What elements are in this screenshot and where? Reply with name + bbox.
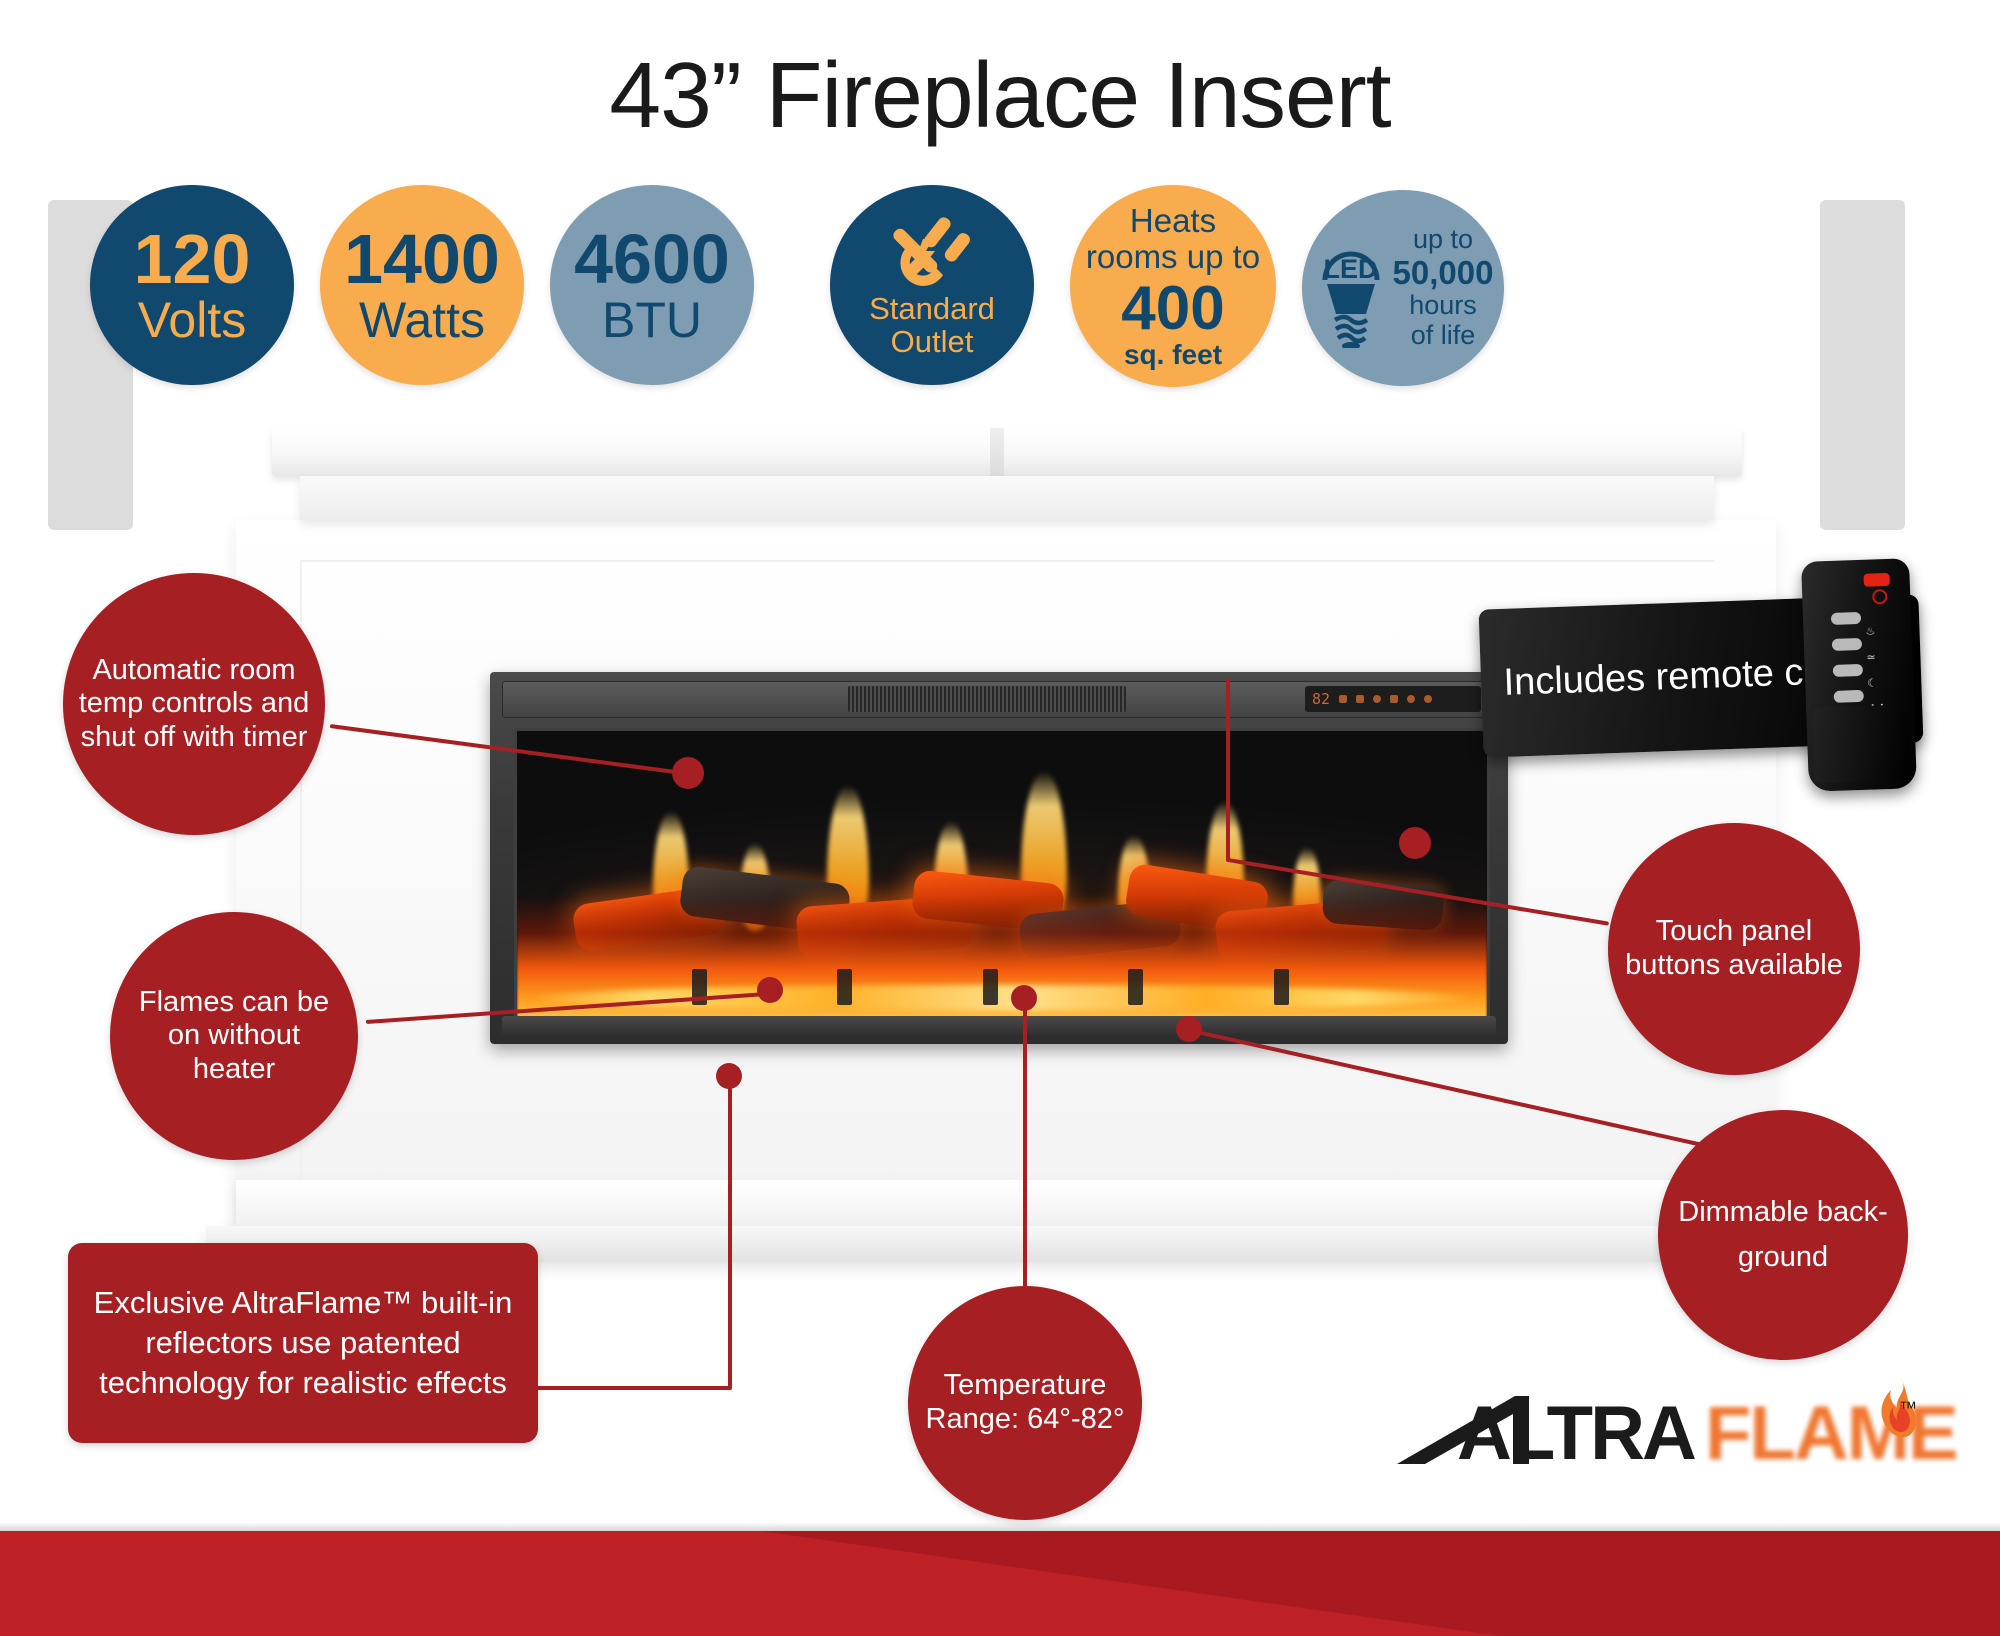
- badge-heats-value: 400: [1121, 277, 1224, 340]
- leader-line-touch-panel-v: [1226, 678, 1230, 862]
- badge-heats-line1: Heats: [1130, 203, 1216, 239]
- band-shadow: [0, 1522, 2000, 1531]
- callout-temperature-range[interactable]: Temperature Range: 64°-82°: [908, 1286, 1142, 1520]
- leader-dot-dimmable: [1176, 1016, 1202, 1042]
- badge-btu-value: 4600: [574, 224, 730, 295]
- moon-icon: ☾: [1867, 677, 1881, 689]
- bulb-icon: LED: [1313, 228, 1389, 348]
- badge-coverage: Heats rooms up to 400 sq. feet: [1070, 185, 1276, 387]
- leader-dot-touch-panel: [1399, 827, 1431, 859]
- leader-dot-auto-temp: [672, 757, 704, 789]
- remote-button-flame[interactable]: [1831, 612, 1861, 625]
- heat-icon: ≃: [1866, 651, 1880, 663]
- vent-grille: [848, 686, 1126, 712]
- badge-watts: 1400 Watts: [320, 185, 524, 385]
- grate-bar: [983, 969, 998, 1005]
- remote-lower-body: [1812, 704, 1911, 783]
- badge-volts-label: Volts: [138, 295, 246, 346]
- timer-button-icon[interactable]: [1373, 695, 1381, 703]
- fireplace-insert: 82: [490, 672, 1508, 1044]
- leader-line-temperature: [1023, 1002, 1027, 1292]
- remote-button-sleep[interactable]: [1833, 664, 1863, 677]
- badge-btu-label: BTU: [602, 295, 702, 346]
- badge-outlet-line1: Standard: [869, 293, 995, 326]
- grate-bar: [837, 969, 852, 1005]
- remote-control: ♨ ≃ ☾ ❙❙: [1801, 558, 1917, 792]
- flame-icon: ♨: [1865, 625, 1879, 637]
- altraflame-logo: ALTRA FLAME ™: [1395, 1368, 1915, 1478]
- insert-bottom-bar: [502, 1016, 1496, 1036]
- badge-standard-outlet: Standard Outlet: [830, 185, 1034, 385]
- insert-top-bar: 82: [502, 681, 1498, 718]
- badge-led-line2: 50,000: [1393, 255, 1494, 291]
- badge-watts-label: Watts: [359, 295, 485, 346]
- badge-heats-line2: rooms up to: [1086, 239, 1260, 275]
- band-diagonal-accent: [0, 1531, 2000, 1636]
- grate-bar: [1274, 969, 1289, 1005]
- badge-outlet-line2: Outlet: [891, 326, 974, 359]
- callout-flames-without-heater[interactable]: Flames can be on without heater: [110, 912, 358, 1160]
- heat-button-icon[interactable]: [1356, 695, 1364, 703]
- callout-touch-panel[interactable]: Touch panel buttons available: [1608, 823, 1860, 1075]
- grate-bar: [1128, 969, 1143, 1005]
- mantel-center-notch: [990, 428, 1004, 476]
- badge-led-line1: up to: [1413, 225, 1473, 255]
- mantel-shelf: [300, 476, 1714, 520]
- infographic-canvas: 43” Fireplace Insert 82: [0, 0, 2000, 1636]
- bottom-red-band: [0, 1531, 2000, 1636]
- badge-btu: 4600 BTU: [550, 185, 754, 385]
- leader-dot-reflectors: [716, 1063, 742, 1089]
- badge-volts-value: 120: [134, 224, 251, 295]
- callout-auto-temp[interactable]: Automatic room temp controls and shut of…: [63, 573, 325, 835]
- leader-dot-flames: [757, 977, 783, 1003]
- callout-reflectors[interactable]: Exclusive AltraFlame™ built-in reflector…: [68, 1243, 538, 1443]
- mode-button-icon[interactable]: [1390, 695, 1398, 703]
- power-button-icon[interactable]: [1339, 695, 1347, 703]
- temperature-readout: 82: [1312, 692, 1330, 707]
- badge-volts: 120 Volts: [90, 185, 294, 385]
- wall-accent-right: [1820, 200, 1905, 530]
- remote-led-indicator: [1863, 573, 1889, 587]
- mantel-top: [272, 428, 1742, 476]
- logo-altra-text: ALTRA: [1457, 1390, 1694, 1477]
- badge-led-line3: hours: [1409, 291, 1477, 321]
- touch-control-panel[interactable]: 82: [1305, 686, 1481, 712]
- badge-led-life: LED up to 50,000 hours of life: [1302, 190, 1504, 386]
- leader-line-reflectors-vert: [728, 1078, 732, 1388]
- remote-button-pause[interactable]: [1834, 690, 1864, 703]
- remote-button-heat[interactable]: [1832, 638, 1862, 651]
- bulb-icon-label: LED: [1313, 256, 1389, 284]
- logo-trademark: ™: [1899, 1398, 1917, 1419]
- plug-icon: [889, 211, 975, 291]
- flame-down-button-icon[interactable]: [1424, 695, 1432, 703]
- flame-up-button-icon[interactable]: [1407, 695, 1415, 703]
- page-title: 43” Fireplace Insert: [0, 42, 2000, 149]
- power-icon: [1872, 589, 1888, 605]
- badge-heats-unit: sq. feet: [1124, 341, 1222, 370]
- leader-line-reflectors: [536, 1386, 732, 1390]
- badge-watts-value: 1400: [344, 224, 500, 295]
- leader-dot-temperature: [1011, 985, 1037, 1011]
- callout-dimmable-background[interactable]: Dimmable back- ground: [1658, 1110, 1908, 1360]
- badge-led-line4: of life: [1411, 321, 1476, 351]
